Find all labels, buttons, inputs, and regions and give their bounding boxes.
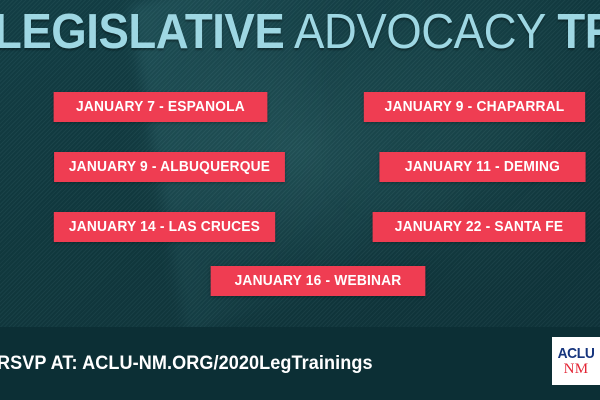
- aclu-logo-wordmark: ACLU: [554, 346, 598, 361]
- aclu-nm-logo: ACLU NM: [552, 337, 600, 385]
- page-title: LEGISLATIVE ADVOCACY TRAININGS: [0, 6, 571, 58]
- event-button-las-cruces[interactable]: JANUARY 14 - LAS CRUCES: [54, 212, 275, 242]
- event-button-espanola[interactable]: JANUARY 7 - ESPANOLA: [54, 92, 268, 122]
- page-title-light: ADVOCACY: [284, 5, 557, 59]
- event-button-chaparral[interactable]: JANUARY 9 - CHAPARRAL: [364, 92, 585, 122]
- poster-canvas: LEGISLATIVE ADVOCACY TRAININGS JANUARY 7…: [0, 0, 600, 400]
- event-button-webinar[interactable]: JANUARY 16 - WEBINAR: [211, 266, 426, 296]
- aclu-logo-state: NM: [552, 361, 600, 378]
- page-title-bold-first: LEGISLATIVE: [0, 5, 284, 59]
- page-title-bold-second: TRAININGS: [557, 5, 600, 59]
- event-button-santa-fe[interactable]: JANUARY 22 - SANTA FE: [373, 212, 586, 242]
- rsvp-text: RSVP AT: ACLU-NM.ORG/2020LegTrainings: [0, 351, 373, 377]
- footer-bar: RSVP AT: ACLU-NM.ORG/2020LegTrainings: [0, 327, 600, 400]
- event-button-albuquerque[interactable]: JANUARY 9 - ALBUQUERQUE: [54, 152, 285, 182]
- event-button-deming[interactable]: JANUARY 11 - DEMING: [379, 152, 585, 182]
